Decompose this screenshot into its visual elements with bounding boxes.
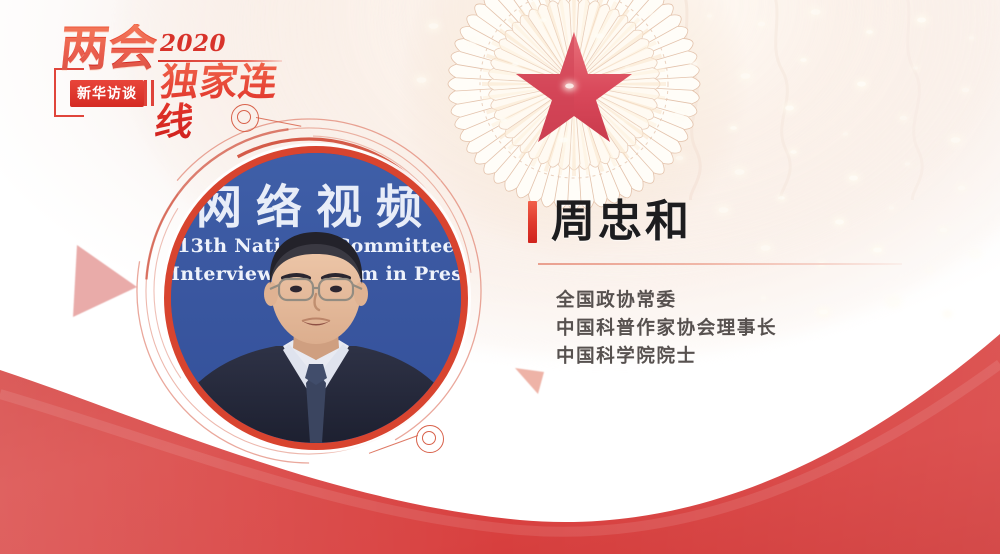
- guest-info-block: 周忠和 全国政协常委 中国科普作家协会理事长 中国科学院院士: [528, 200, 948, 371]
- program-logo[interactable]: 两会 2020 独家连线 新华访谈: [32, 22, 282, 114]
- guest-name-row: 周忠和: [528, 200, 948, 244]
- info-divider: [538, 263, 902, 265]
- interviewee-figure: [171, 228, 461, 443]
- guest-titles: 全国政协常委 中国科普作家协会理事长 中国科学院院士: [556, 287, 948, 371]
- portrait-photo-ring: 网络视频 13th National Committee Interviewin…: [164, 146, 468, 450]
- guest-title-line: 全国政协常委: [556, 287, 948, 315]
- guest-title-line: 中国科学院院士: [556, 343, 948, 371]
- logo-program-name: 两会: [57, 24, 158, 73]
- logo-badge: 新华访谈: [70, 80, 144, 107]
- logo-subtitle: 独家连线: [152, 62, 287, 142]
- decor-ring-marker-bottom: [416, 425, 444, 453]
- portrait-module: 网络视频 13th National Committee Interviewin…: [118, 108, 518, 474]
- guest-title-line: 中国科普作家协会理事长: [556, 315, 948, 343]
- guest-name: 周忠和: [551, 200, 692, 244]
- portrait-photo: 网络视频 13th National Committee Interviewin…: [171, 153, 461, 443]
- logo-tick-decor: [144, 80, 158, 106]
- name-accent-bar: [528, 201, 537, 243]
- ceiling-light-dot: [972, 252, 979, 256]
- broadcast-lower-third-card: 网络视频 13th National Committee Interviewin…: [0, 0, 1000, 554]
- logo-year: 2020: [160, 30, 226, 57]
